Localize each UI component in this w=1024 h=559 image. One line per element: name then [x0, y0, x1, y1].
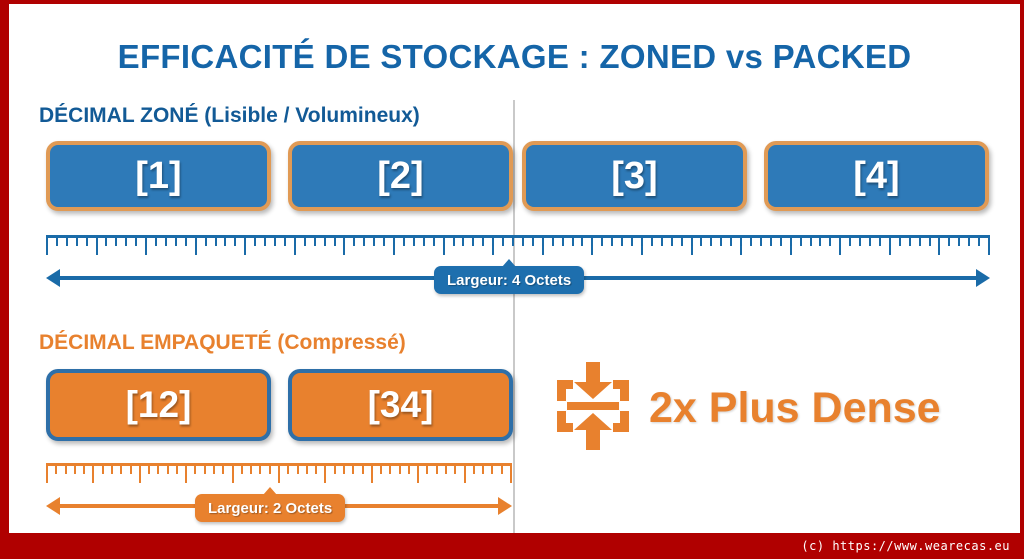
compress-icon — [555, 362, 631, 455]
ruler-tick — [155, 235, 157, 246]
ruler-tick — [631, 235, 633, 246]
ruler-tick — [380, 463, 382, 474]
ruler-tick — [417, 463, 419, 483]
ruler-tick — [671, 235, 673, 246]
ruler-tick — [383, 235, 385, 246]
ruler-tick — [641, 235, 643, 255]
density-label: 2x Plus Dense — [649, 384, 941, 433]
ruler-tick — [454, 463, 456, 474]
density-callout: 2x Plus Dense — [555, 362, 941, 455]
ruler-tick — [899, 235, 901, 246]
ruler-tick — [399, 463, 401, 474]
ruler-tick — [510, 463, 512, 483]
ruler-tick — [352, 463, 354, 474]
arrow-right-icon — [498, 497, 512, 515]
ruler-tick — [306, 463, 308, 474]
ruler-tick — [621, 235, 623, 246]
page-title: EFFICACITÉ DE STOCKAGE : ZONED vs PACKED — [9, 38, 1020, 76]
footer-bar: (c) https://www.wearecas.eu — [0, 533, 1024, 559]
ruler-tick — [611, 235, 613, 246]
ruler-tick — [224, 235, 226, 246]
ruler-tick — [978, 235, 980, 246]
ruler-tick — [562, 235, 564, 246]
ruler-tick — [353, 235, 355, 246]
ruler-tick — [800, 235, 802, 246]
ruler-tick — [105, 235, 107, 246]
ruler-tick — [213, 463, 215, 474]
ruler-tick — [482, 235, 484, 246]
ruler-tick — [287, 463, 289, 474]
ruler-tick — [195, 235, 197, 255]
ruler-tick — [284, 235, 286, 246]
ruler-tick — [324, 463, 326, 483]
ruler-tick — [46, 235, 48, 255]
ruler-tick — [46, 463, 48, 483]
ruler-tick — [315, 463, 317, 474]
ruler-tick — [393, 235, 395, 255]
ruler-tick — [780, 235, 782, 246]
ruler-tick — [269, 463, 271, 474]
zoned-byte-box: [1] — [46, 141, 271, 211]
ruler-tick — [760, 235, 762, 246]
ruler-tick — [55, 463, 57, 474]
vertical-divider — [513, 100, 515, 537]
ruler-tick — [720, 235, 722, 246]
ruler-tick — [700, 235, 702, 246]
ruler-tick — [909, 235, 911, 246]
ruler-tick — [115, 235, 117, 246]
ruler-tick — [83, 463, 85, 474]
ruler-tick — [819, 235, 821, 246]
ruler-tick — [297, 463, 299, 474]
ruler-tick — [389, 463, 391, 474]
ruler-tick — [859, 235, 861, 246]
ruler-tick — [148, 463, 150, 474]
ruler-tick — [958, 235, 960, 246]
packed-byte-box: [34] — [288, 369, 513, 441]
ruler-tick — [362, 463, 364, 474]
ruler-tick — [462, 235, 464, 246]
ruler-tick — [552, 235, 554, 246]
ruler-tick — [165, 235, 167, 246]
ruler-tick — [205, 235, 207, 246]
ruler-tick — [176, 463, 178, 474]
ruler-tick — [445, 463, 447, 474]
ruler-tick — [215, 235, 217, 246]
ruler-tick — [304, 235, 306, 246]
ruler-tick — [403, 235, 405, 246]
ruler-tick — [651, 235, 653, 246]
ruler-tick — [849, 235, 851, 246]
ruler-tick — [204, 463, 206, 474]
packed-section-heading: DÉCIMAL EMPAQUETÉ (Compressé) — [39, 331, 406, 355]
ruler-tick — [145, 235, 147, 255]
ruler-tick — [948, 235, 950, 246]
ruler-tick — [371, 463, 373, 483]
ruler-tick — [491, 463, 493, 474]
ruler-tick — [691, 235, 693, 255]
ruler-tick — [810, 235, 812, 246]
zoned-byte-box: [3] — [522, 141, 747, 211]
ruler-tick — [175, 235, 177, 246]
ruler-tick — [426, 463, 428, 474]
ruler-tick — [92, 463, 94, 483]
ruler-tick — [433, 235, 435, 246]
ruler-tick — [232, 463, 234, 483]
ruler-tick — [522, 235, 524, 246]
ruler-tick — [324, 235, 326, 246]
ruler-tick — [102, 463, 104, 474]
ruler-tick — [234, 235, 236, 246]
ruler-tick — [111, 463, 113, 474]
packed-byte-box: [12] — [46, 369, 271, 441]
ruler-tick — [314, 235, 316, 246]
ruler-tick — [96, 235, 98, 255]
ruler-tick — [443, 235, 445, 255]
ruler-tick — [194, 463, 196, 474]
ruler-tick — [968, 235, 970, 246]
ruler-tick — [501, 463, 503, 474]
ruler-tick — [661, 235, 663, 246]
ruler-tick — [770, 235, 772, 246]
ruler-tick — [274, 235, 276, 246]
ruler-tick — [259, 463, 261, 474]
zoned-byte-box: [4] — [764, 141, 989, 211]
ruler-tick — [76, 235, 78, 246]
ruler-tick — [157, 463, 159, 474]
ruler-tick — [185, 235, 187, 246]
ruler-tick — [241, 463, 243, 474]
ruler-tick — [740, 235, 742, 255]
ruler-tick — [413, 235, 415, 246]
ruler-tick — [343, 463, 345, 474]
ruler-tick — [988, 235, 990, 255]
ruler-tick — [436, 463, 438, 474]
ruler-tick — [363, 235, 365, 246]
ruler-tick — [250, 463, 252, 474]
ruler-tick — [750, 235, 752, 246]
ruler-tick — [591, 235, 593, 255]
ruler-tick — [502, 235, 504, 246]
watermark-text: (c) https://www.wearecas.eu — [801, 539, 1024, 553]
ruler-tick — [829, 235, 831, 246]
ruler-tick — [167, 463, 169, 474]
ruler-tick — [65, 463, 67, 474]
ruler-tick — [373, 235, 375, 246]
ruler-tick — [222, 463, 224, 474]
zoned-width-badge: Largeur: 4 Octets — [434, 266, 584, 294]
ruler-tick — [453, 235, 455, 246]
ruler-tick — [889, 235, 891, 255]
ruler-tick — [244, 235, 246, 255]
ruler-tick — [423, 235, 425, 246]
ruler-tick — [343, 235, 345, 255]
ruler-tick — [681, 235, 683, 246]
ruler-tick — [66, 235, 68, 246]
infographic-frame: EFFICACITÉ DE STOCKAGE : ZONED vs PACKED… — [0, 0, 1024, 559]
ruler-tick — [254, 235, 256, 246]
ruler-tick — [264, 235, 266, 246]
ruler-tick — [492, 235, 494, 255]
ruler-tick — [938, 235, 940, 255]
ruler-tick — [542, 235, 544, 255]
ruler-tick — [334, 463, 336, 474]
ruler-tick — [74, 463, 76, 474]
ruler-tick — [408, 463, 410, 474]
ruler-tick — [790, 235, 792, 255]
ruler-tick — [929, 235, 931, 246]
ruler-tick — [334, 235, 336, 246]
ruler-tick — [56, 235, 58, 246]
ruler-tick — [601, 235, 603, 246]
ruler-tick — [572, 235, 574, 246]
ruler-tick — [125, 235, 127, 246]
ruler-tick — [278, 463, 280, 483]
ruler-tick — [135, 235, 137, 246]
zoned-byte-box: [2] — [288, 141, 513, 211]
ruler-tick — [86, 235, 88, 246]
ruler-tick — [472, 235, 474, 246]
ruler-tick — [482, 463, 484, 474]
ruler-tick — [839, 235, 841, 255]
packed-width-badge: Largeur: 2 Octets — [195, 494, 345, 522]
ruler-tick — [919, 235, 921, 246]
packed-ruler — [46, 463, 512, 485]
ruler-tick — [581, 235, 583, 246]
ruler-tick — [710, 235, 712, 246]
ruler-tick — [730, 235, 732, 246]
ruler-tick — [512, 235, 514, 246]
ruler-tick — [473, 463, 475, 474]
ruler-tick — [130, 463, 132, 474]
ruler-tick — [879, 235, 881, 246]
zoned-ruler — [46, 235, 990, 257]
ruler-tick — [139, 463, 141, 483]
ruler-tick — [185, 463, 187, 483]
arrow-right-icon — [976, 269, 990, 287]
ruler-tick — [532, 235, 534, 246]
ruler-tick — [294, 235, 296, 255]
ruler-tick — [464, 463, 466, 483]
ruler-tick — [120, 463, 122, 474]
ruler-tick — [869, 235, 871, 246]
zoned-section-heading: DÉCIMAL ZONÉ (Lisible / Volumineux) — [39, 104, 420, 128]
